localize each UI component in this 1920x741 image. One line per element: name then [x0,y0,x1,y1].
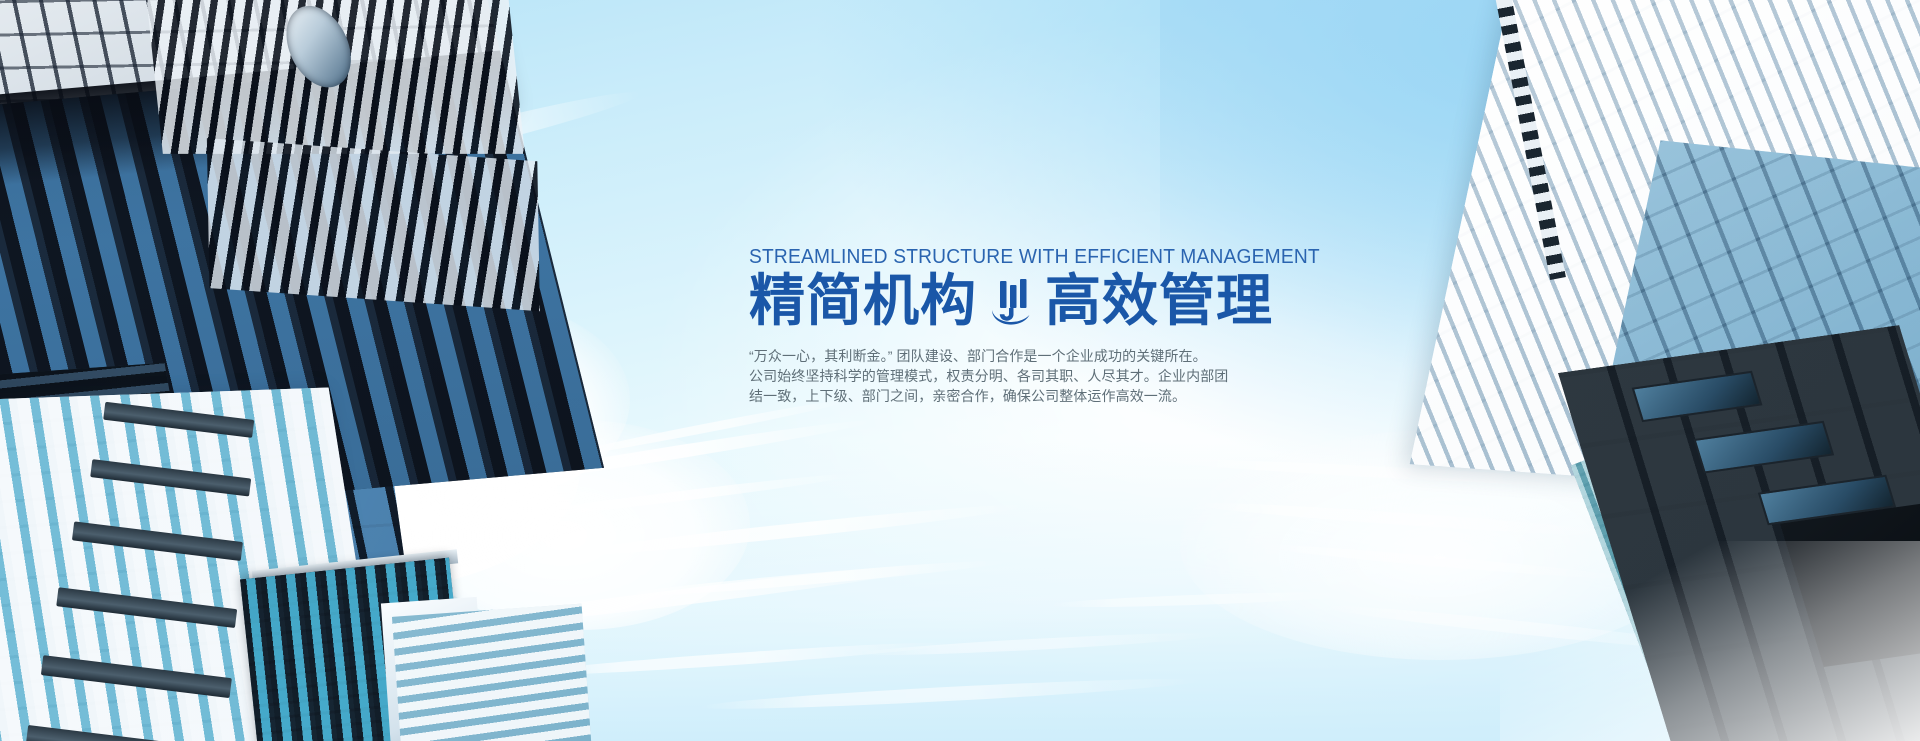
hero-description: “万众一心，其利断金。” 团队建设、部门合作是一个企业成功的关键所在。 公司始终… [749,346,1305,406]
company-logo-mark-icon [989,279,1033,329]
tower-louver-fins-lower [207,138,540,311]
hero-headline: 精简机构 高效管理 [749,270,1329,332]
description-line-2: 公司始终坚持科学的管理模式，权责分明、各司其职、人尽其才。企业内部团 [749,366,1305,386]
headline-right-text: 高效管理 [1045,270,1273,332]
hero-banner: STREAMLINED STRUCTURE WITH EFFICIENT MAN… [0,0,1920,741]
hero-eyebrow-text: STREAMLINED STRUCTURE WITH EFFICIENT MAN… [749,246,1306,268]
description-line-1: “万众一心，其利断金。” 团队建设、部门合作是一个企业成功的关键所在。 [749,346,1305,366]
description-line-3: 结一致，上下级、部门之间，亲密合作，确保公司整体运作高效一流。 [749,386,1305,406]
hero-text-block: STREAMLINED STRUCTURE WITH EFFICIENT MAN… [749,246,1329,406]
pale-ribbed-tower-icon [392,604,594,741]
bottom-right-haze [1500,541,1920,741]
headline-left-text: 精简机构 [749,270,977,332]
